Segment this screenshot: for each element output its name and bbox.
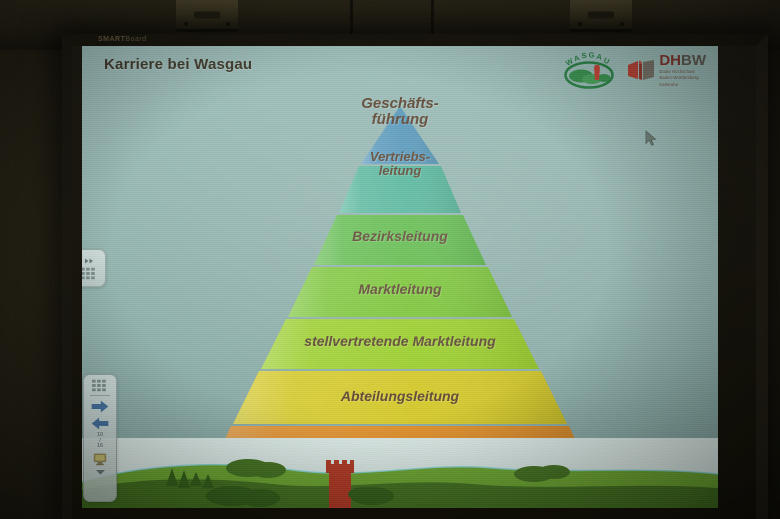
double-chevron-right-icon[interactable] — [83, 257, 96, 265]
toolbar-expand-tab[interactable] — [82, 249, 106, 287]
dhbw-wordmark: DHBW — [659, 53, 706, 68]
pyramid-level-4 — [288, 267, 512, 317]
pyramid-level-5 — [261, 319, 539, 369]
ceiling-speaker-right — [570, 0, 632, 32]
grid-icon[interactable] — [82, 267, 98, 280]
dhbw-book-icon — [627, 59, 655, 81]
dhbw-logo: DHBW Duale Hochschule Baden-Württemberg … — [627, 53, 706, 87]
pyramid-level-6 — [233, 371, 567, 424]
wasgau-logo: W A S G A U — [561, 50, 617, 90]
svg-text:A: A — [596, 52, 604, 62]
svg-text:G: G — [589, 51, 595, 60]
toolbar-divider — [90, 395, 110, 396]
slide-counter: 10 / 16 — [97, 433, 103, 450]
projected-slide: Karriere bei Wasgau W A S G A U — [82, 46, 718, 508]
pyramid-level-2 — [339, 166, 461, 213]
chevron-down-icon[interactable] — [94, 468, 107, 476]
presentation-toolbar[interactable]: 10 / 16 — [83, 374, 117, 502]
brand-sub: Board — [125, 36, 146, 43]
landscape-graphic — [82, 438, 718, 508]
logo-row: W A S G A U DHBW Duale Hochs — [561, 50, 706, 90]
pyramid-level-3 — [314, 215, 486, 265]
svg-text:S: S — [581, 51, 587, 61]
dhbw-subtitle-line-1: Duale Hochschule — [659, 69, 706, 74]
page-title: Karriere bei Wasgau — [104, 56, 252, 73]
dhbw-subtitle-line-3: Karlsruhe — [659, 82, 706, 87]
pyramid-level-1 — [361, 106, 439, 164]
svg-text:A: A — [573, 53, 582, 64]
dhbw-word-bw: BW — [681, 52, 706, 69]
ceiling-speaker-left — [176, 0, 238, 32]
photograph-of-smartboard: SMARTBoard Karriere bei Wasgau W A S G — [0, 0, 780, 519]
grid-icon[interactable] — [91, 379, 109, 392]
monitor-icon[interactable] — [92, 452, 108, 466]
brand-name: SMART — [98, 36, 125, 43]
landscape-illustration — [82, 438, 718, 508]
dhbw-subtitle-line-2: Baden-Württemberg — [659, 75, 706, 80]
arrow-right-icon[interactable] — [90, 399, 110, 414]
slide-counter-total: 16 — [97, 444, 103, 450]
arrow-left-icon[interactable] — [90, 416, 110, 431]
mouse-cursor — [645, 130, 657, 147]
dhbw-word-dh: DH — [659, 52, 681, 69]
smartboard-brand-label: SMARTBoard — [98, 34, 147, 46]
